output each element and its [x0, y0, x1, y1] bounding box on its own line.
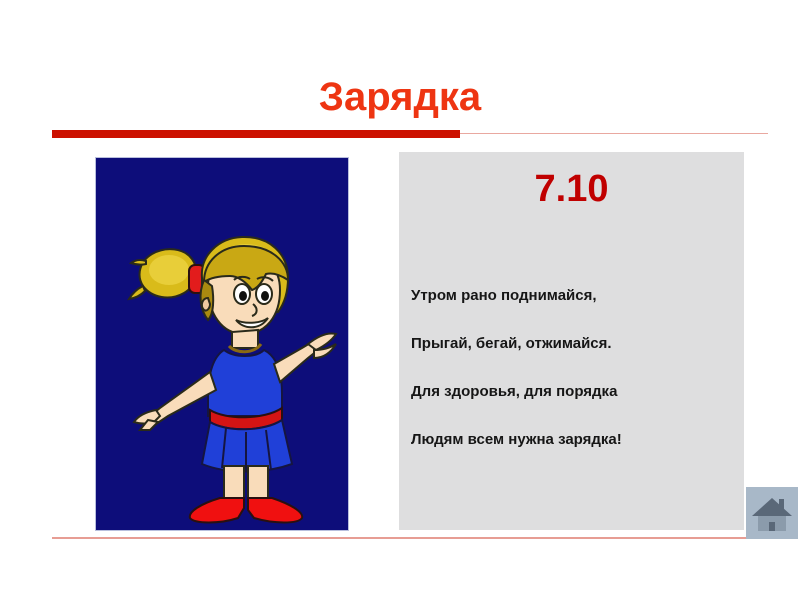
- home-button[interactable]: [746, 487, 798, 539]
- poem-line: Для здоровья, для порядка: [408, 382, 744, 401]
- poem-line: Утром рано поднимайся,: [408, 286, 744, 305]
- presentation-slide: Зарядка: [0, 0, 800, 600]
- neck: [232, 330, 258, 348]
- divider-thick-bar: [52, 130, 460, 138]
- bottom-divider: [52, 537, 746, 539]
- poem-line: Людям всем нужна зарядка!: [408, 430, 744, 449]
- poem-line: Прыгай, бегай, отжимайся.: [408, 334, 744, 353]
- page-title: Зарядка: [0, 74, 800, 120]
- shirt: [208, 350, 282, 416]
- title-divider: [52, 129, 768, 139]
- slide-number: 7.10: [399, 166, 744, 212]
- content-panel: 7.10 Утром рано поднимайся, Прыгай, бега…: [399, 152, 744, 530]
- cartoon-girl-illustration: [96, 158, 348, 530]
- home-icon[interactable]: [746, 487, 798, 539]
- illustration-panel: [95, 157, 349, 531]
- poem-text: Утром рано поднимайся, Прыгай, бегай, от…: [408, 286, 744, 449]
